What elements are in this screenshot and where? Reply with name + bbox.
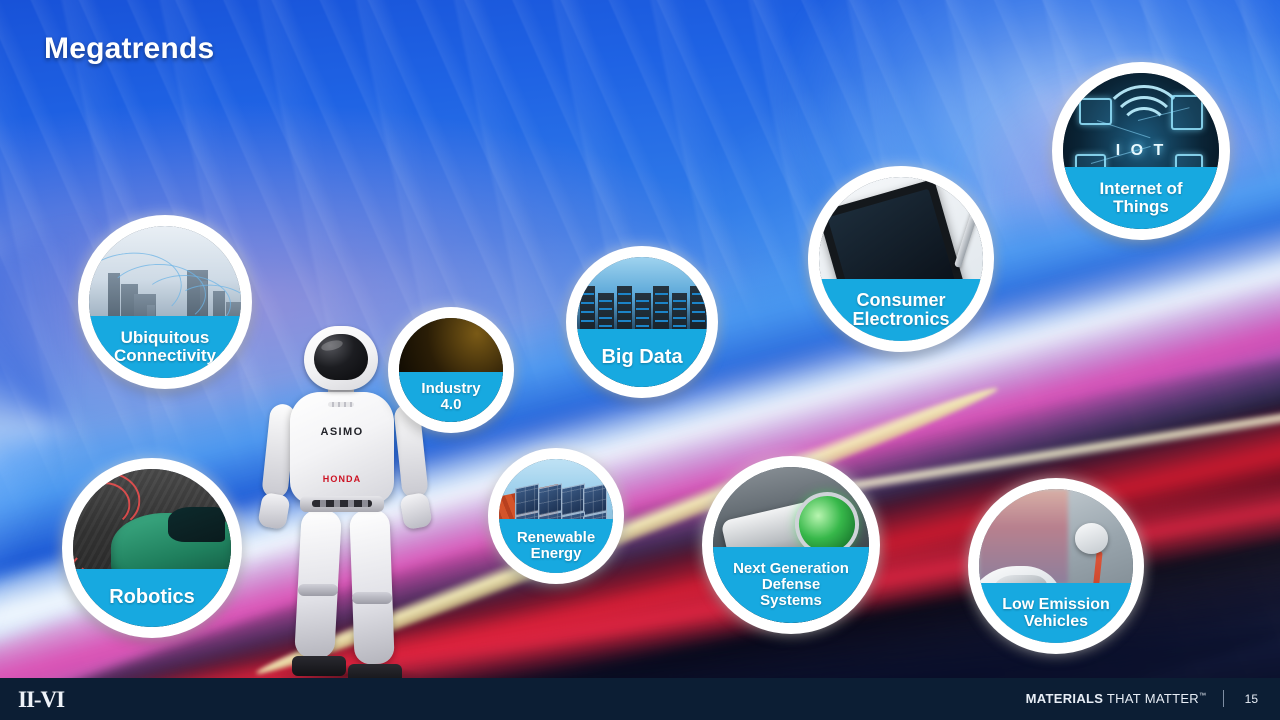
badge-disc: UbiquitousConnectivity [89,226,241,378]
company-logo: II-VI [18,687,64,713]
tagline: MATERIALS THAT MATTER™ [1026,691,1206,706]
robot-left-knee [298,584,338,596]
megatrend-badge-ubiquitous-connectivity[interactable]: UbiquitousConnectivity [78,215,252,389]
robot-waist [300,496,384,512]
robot-chest-lights [328,402,354,407]
robot-right-leg [349,509,394,664]
badge-disc: Robotics [73,469,231,627]
badge-disc: I O T Internet ofThings [1063,73,1219,229]
megatrend-badge-big-data[interactable]: Big Data [566,246,718,398]
badge-disc: Industry4.0 [399,318,503,422]
badge-label-band: ConsumerElectronics [819,279,983,341]
badge-label-line: Low Emission [1002,596,1110,613]
badge-label-line: Robotics [109,587,195,609]
badge-label-band: Industry4.0 [399,372,503,422]
badge-label-text: Industry4.0 [421,381,480,413]
tagline-bold: MATERIALS [1026,691,1104,706]
page-number: 15 [1245,692,1258,706]
badge-disc: ConsumerElectronics [819,177,983,341]
badge-label-line: Connectivity [114,347,216,365]
badge-label-text: UbiquitousConnectivity [114,329,216,366]
badge-label-line: Renewable [517,530,595,546]
tagline-light: THAT MATTER [1107,691,1199,706]
badge-label-line: Big Data [601,347,682,369]
robot-left-foot [292,656,346,676]
badge-label-text: Internet ofThings [1099,180,1182,217]
badge-label-line: Ubiquitous [114,329,216,347]
badge-label-line: Industry [421,381,480,397]
page-title: Megatrends [44,32,214,66]
badge-label-band: Next GenerationDefenseSystems [713,547,869,623]
badge-label-line: 4.0 [421,397,480,413]
badge-label-line: Systems [733,593,849,609]
megatrend-badge-renewable-energy[interactable]: RenewableEnergy [488,448,624,584]
footer-divider [1223,690,1224,707]
badge-label-band: Big Data [577,329,707,387]
badge-label-band: Robotics [73,569,231,627]
badge-label-text: Low EmissionVehicles [1002,596,1110,631]
megatrend-badge-robotics[interactable]: Robotics [62,458,242,638]
megatrend-badge-industry-40[interactable]: Industry4.0 [388,307,514,433]
robot-left-hand [257,492,290,530]
badge-label-text: Next GenerationDefenseSystems [733,561,849,610]
badge-label-band: UbiquitousConnectivity [89,316,241,378]
robot-right-knee [352,592,392,604]
robot-torso [290,392,394,504]
badge-label-band: Internet ofThings [1063,167,1219,229]
badge-label-line: Vehicles [1002,613,1110,630]
badge-disc: Next GenerationDefenseSystems [713,467,869,623]
badge-label-text: RenewableEnergy [517,530,595,562]
trademark-symbol: ™ [1199,693,1206,700]
megatrend-badge-internet-of-things[interactable]: I O T Internet ofThings [1052,62,1230,240]
slide-canvas: ASIMO HONDA UbiquitousConnectivityIndust… [0,0,1280,720]
megatrend-badge-consumer-electronics[interactable]: ConsumerElectronics [808,166,994,352]
badge-label-band: RenewableEnergy [499,519,613,573]
badge-label-line: Internet of [1099,180,1182,198]
megatrend-badge-next-generation-defense-systems[interactable]: Next GenerationDefenseSystems [702,456,880,634]
robot-brand-label: HONDA [290,474,394,484]
badge-label-band: Low EmissionVehicles [979,583,1133,643]
badge-label-line: Defense [733,577,849,593]
megatrend-badge-low-emission-vehicles[interactable]: Low EmissionVehicles [968,478,1144,654]
footer-bar: II-VI MATERIALS THAT MATTER™ 15 [0,678,1280,720]
badge-label-text: Robotics [109,587,195,609]
robot-chest-label: ASIMO [290,426,394,438]
badge-label-line: Consumer [852,291,949,310]
badge-label-line: Things [1099,198,1182,216]
badge-label-line: Electronics [852,310,949,329]
robot-visor [314,334,368,380]
badge-disc: RenewableEnergy [499,459,613,573]
badge-label-text: ConsumerElectronics [852,291,949,330]
badge-label-line: Energy [517,546,595,562]
badge-label-text: Big Data [601,347,682,369]
badge-disc: Big Data [577,257,707,387]
badge-disc: Low EmissionVehicles [979,489,1133,643]
robot-right-hand [399,492,432,530]
badge-label-line: Next Generation [733,561,849,577]
